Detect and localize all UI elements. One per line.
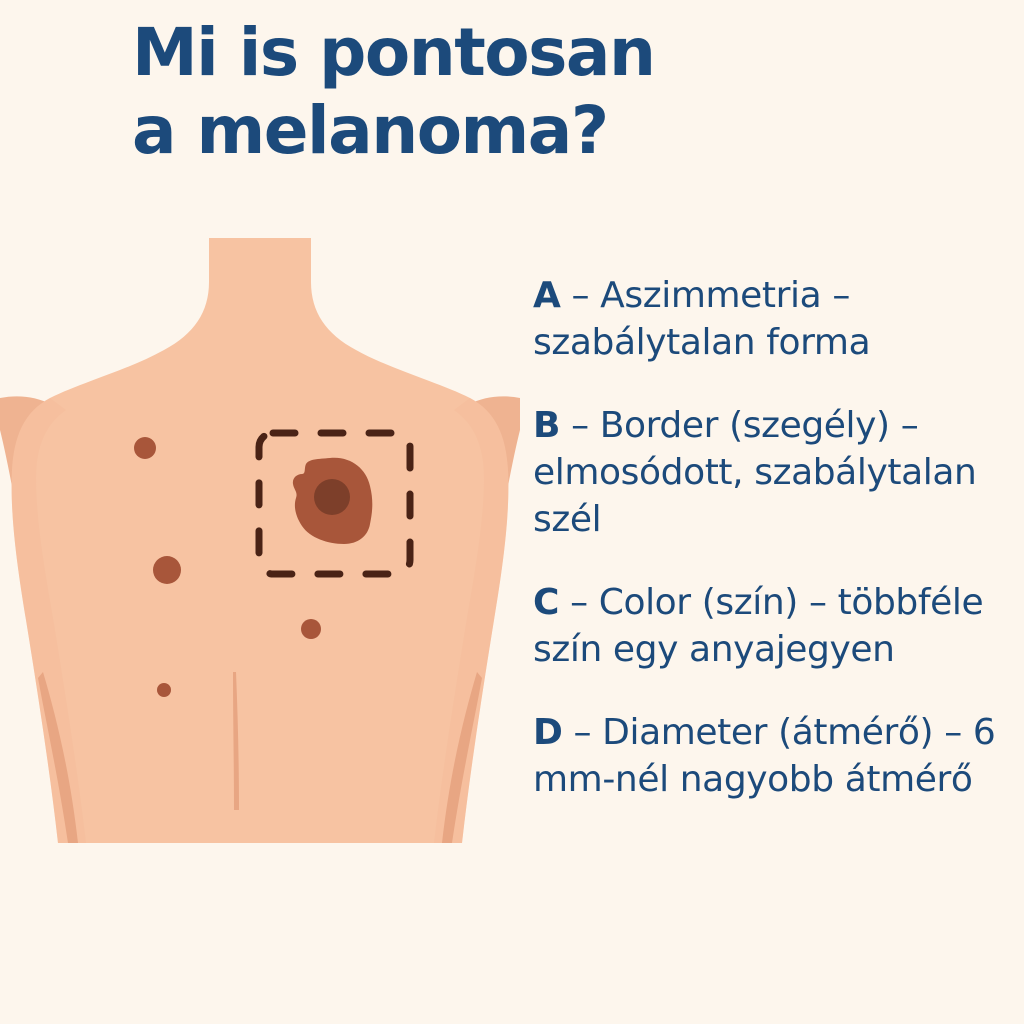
abcd-item-c-text: C – Color (szín) – többféle szín egy any… <box>533 579 1003 673</box>
abcd-dash-a: – <box>560 275 600 316</box>
human-back-torso-illustration <box>0 0 520 1024</box>
melanoma-mole-core <box>314 479 350 515</box>
abcd-dash-b: – <box>560 405 600 446</box>
abcd-item-a-text: A – Aszimmetria – szabálytalan forma <box>533 272 1003 366</box>
abcd-description-b: Border (szegély) – elmosódott, szabályta… <box>533 405 976 540</box>
small-mole-1 <box>134 437 156 459</box>
small-mole-2 <box>153 556 181 584</box>
small-mole-4 <box>157 683 171 697</box>
abcd-item-c: C – Color (szín) – többféle szín egy any… <box>533 579 1003 673</box>
abcd-item-d-text: D – Diameter (átmérő) – 6 mm-nél nagyobb… <box>533 709 1003 803</box>
abcd-item-b-text: B – Border (szegély) – elmosódott, szabá… <box>533 402 1003 543</box>
small-mole-3 <box>301 619 321 639</box>
abcd-item-a: A – Aszimmetria – szabálytalan forma <box>533 272 1003 366</box>
abcd-item-b: B – Border (szegély) – elmosódott, szabá… <box>533 402 1003 543</box>
melanoma-infographic: Mi is pontosan a melanoma? A <box>0 0 1024 1024</box>
abcd-letter-c: C <box>533 582 559 623</box>
abcd-description-c: Color (szín) – többféle szín egy anyajeg… <box>533 582 983 670</box>
abcd-letter-d: D <box>533 712 562 753</box>
abcd-item-d: D – Diameter (átmérő) – 6 mm-nél nagyobb… <box>533 709 1003 803</box>
abcd-description-d: Diameter (átmérő) – 6 mm-nél nagyobb átm… <box>533 712 995 800</box>
abcd-letter-a: A <box>533 275 560 316</box>
abcd-letter-b: B <box>533 405 560 446</box>
abcd-dash-c: – <box>559 582 599 623</box>
abcd-dash-d: – <box>562 712 602 753</box>
abcd-rule-list: A – Aszimmetria – szabálytalan forma B –… <box>533 272 1003 803</box>
